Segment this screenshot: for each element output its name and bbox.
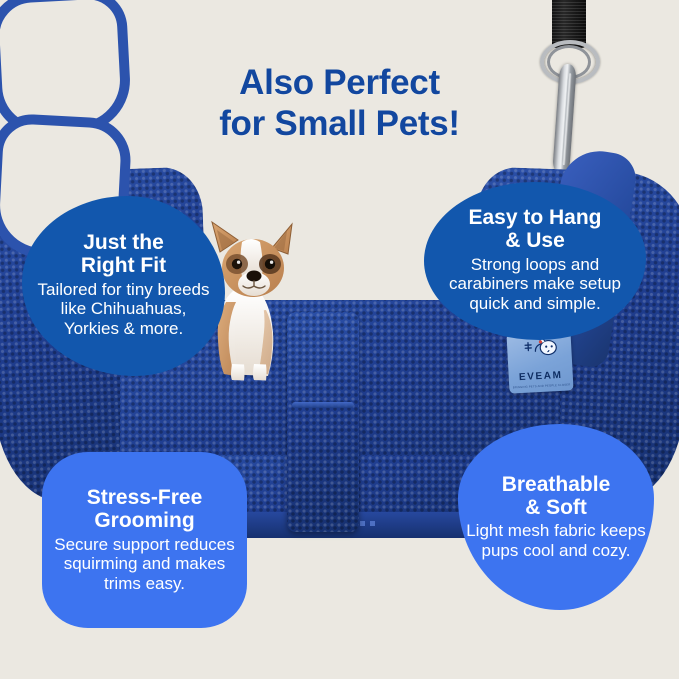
feature-body: Tailored for tiny breeds like Chihuahuas… bbox=[32, 280, 215, 339]
infographic-canvas: EVEAM BRINGING PETS AND PEOPLE CLOSER bbox=[0, 0, 679, 679]
feature-title: Just the Right Fit bbox=[81, 231, 166, 277]
title-line-2: for Small Pets! bbox=[0, 103, 679, 144]
feature-body: Strong loops and carabiners make setup q… bbox=[430, 255, 640, 314]
feature-title-line-1: Just the bbox=[83, 231, 164, 254]
feature-title: Breathable & Soft bbox=[502, 473, 611, 519]
page-title: Also Perfect for Small Pets! bbox=[0, 62, 679, 145]
feature-title-line-2: Right Fit bbox=[81, 254, 166, 277]
feature-title-line-2: & Soft bbox=[525, 496, 587, 519]
feature-title-line-1: Easy to Hang bbox=[468, 206, 601, 229]
feature-title-line-2: Grooming bbox=[94, 509, 194, 532]
feature-title: Stress-Free Grooming bbox=[87, 486, 203, 532]
title-line-1: Also Perfect bbox=[0, 62, 679, 103]
feature-body: Secure support reduces squirming and mak… bbox=[50, 535, 239, 594]
velcro-strap-seam bbox=[292, 402, 354, 408]
feature-title-line-1: Stress-Free bbox=[87, 486, 203, 509]
feature-callout-stress-free-grooming: Stress-Free Grooming Secure support redu… bbox=[42, 452, 247, 628]
brand-tag-name: EVEAM bbox=[519, 371, 563, 383]
feature-callout-easy-to-hang-and-use: Easy to Hang & Use Strong loops and cara… bbox=[424, 182, 646, 340]
brand-tag-tagline: BRINGING PETS AND PEOPLE CLOSER bbox=[512, 384, 570, 390]
feature-title-line-1: Breathable bbox=[502, 473, 611, 496]
feature-title-line-2: & Use bbox=[505, 229, 565, 252]
feature-title: Easy to Hang & Use bbox=[468, 206, 601, 252]
feature-body: Light mesh fabric keeps pups cool and co… bbox=[466, 521, 646, 560]
